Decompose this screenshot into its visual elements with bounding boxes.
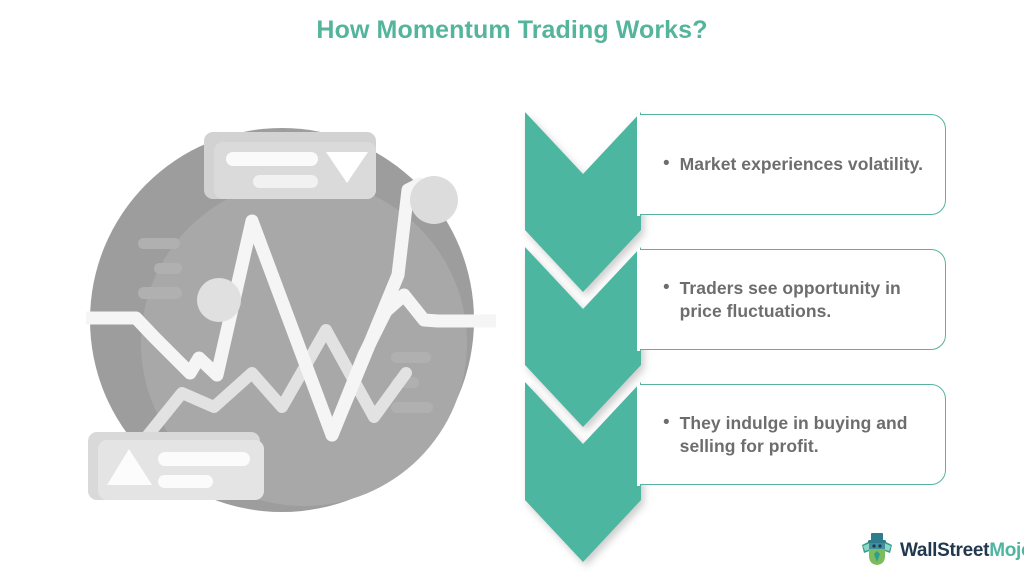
- down-chevron-arrow-icon-3: [525, 382, 641, 562]
- stock-market-illustration: [86, 115, 496, 525]
- flow-step-3: • They indulge in buying and selling for…: [512, 374, 972, 534]
- flow-step-text: They indulge in buying and selling for p…: [680, 412, 931, 458]
- logo-wordmark: WallStreetMojo: [900, 540, 1024, 562]
- wallstreetmojo-mascot-icon: [860, 531, 894, 572]
- flow-step-text: Market experiences volatility.: [680, 153, 923, 176]
- process-flow: • Market experiences volatility. • Trade…: [512, 104, 972, 554]
- data-point-dot-small: [197, 278, 241, 322]
- data-point-dot-large: [410, 176, 458, 224]
- logo-word-primary: WallStreet: [900, 540, 989, 561]
- bullet-icon: •: [663, 153, 670, 175]
- bottom-tooltip-card: [88, 432, 264, 500]
- callout-box-1: • Market experiences volatility.: [638, 114, 946, 215]
- callout-box-3: • They indulge in buying and selling for…: [638, 384, 946, 485]
- flow-step-text: Traders see opportunity in price fluctua…: [680, 277, 931, 323]
- logo-word-secondary: Mojo: [989, 540, 1024, 561]
- top-tooltip-card: [204, 132, 376, 199]
- bullet-icon: •: [663, 277, 670, 299]
- wallstreetmojo-logo[interactable]: WallStreetMojo: [860, 530, 1020, 572]
- page-title: How Momentum Trading Works?: [0, 16, 1024, 45]
- bullet-icon: •: [663, 412, 670, 434]
- callout-box-2: • Traders see opportunity in price fluct…: [638, 249, 946, 350]
